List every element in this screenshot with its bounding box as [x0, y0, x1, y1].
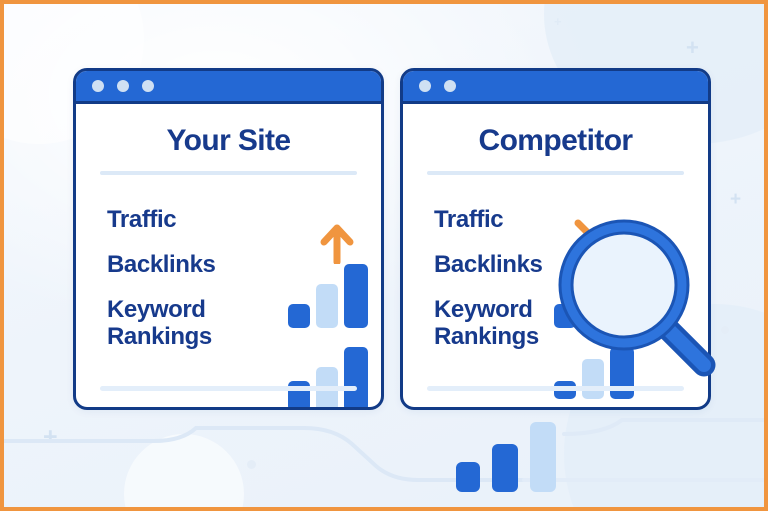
illustration-frame: + + + + Your Site Traffic Backlinks Keyw… [0, 0, 768, 511]
panel-title-your-site: Your Site [76, 104, 381, 158]
footer-divider [427, 386, 684, 391]
window-dot-icon[interactable] [419, 80, 431, 92]
bar [344, 264, 368, 328]
metric-keyword-rankings-line2: Rankings [434, 324, 542, 351]
metric-keyword-rankings-line1: Keyword [107, 297, 215, 324]
bar [582, 284, 604, 328]
footer-divider [100, 386, 357, 391]
metric-backlinks: Backlinks [434, 252, 542, 279]
keyword-rankings-bar-chart [288, 347, 368, 410]
wave-line-decoration [4, 394, 768, 511]
metric-backlinks: Backlinks [107, 252, 215, 279]
metric-keyword-rankings: Keyword Rankings [107, 297, 215, 351]
keyword-rankings-bar-chart [554, 347, 634, 399]
mini-bar [456, 462, 480, 492]
metric-keyword-rankings: Keyword Rankings [434, 297, 542, 351]
metric-list-your-site: Traffic Backlinks Keyword Rankings [107, 207, 215, 351]
window-titlebar [403, 71, 708, 104]
bar [288, 304, 310, 328]
backlinks-bar-chart [288, 264, 368, 328]
window-dot-icon[interactable] [444, 80, 456, 92]
window-body: Competitor Traffic Backlinks Keyword Ran… [403, 104, 708, 407]
window-dot-icon[interactable] [142, 80, 154, 92]
window-titlebar [76, 71, 381, 104]
title-divider [427, 171, 684, 175]
trend-down-arrow-icon [571, 216, 613, 258]
panel-title-competitor: Competitor [403, 104, 708, 158]
window-body: Your Site Traffic Backlinks Keyword Rank… [76, 104, 381, 407]
window-dot-icon[interactable] [117, 80, 129, 92]
trend-up-arrow-icon [320, 222, 354, 264]
bar [582, 359, 604, 399]
panel-competitor[interactable]: Competitor Traffic Backlinks Keyword Ran… [400, 68, 711, 410]
metric-traffic: Traffic [107, 207, 215, 234]
decorative-mini-bar-chart [456, 422, 556, 492]
metric-keyword-rankings-line1: Keyword [434, 297, 542, 324]
plus-decoration-icon: + [730, 190, 741, 209]
dot-decoration [721, 326, 729, 334]
window-dot-icon[interactable] [92, 80, 104, 92]
mini-bar [530, 422, 556, 492]
mini-bar [492, 444, 518, 492]
bar [610, 264, 634, 328]
bar [316, 284, 338, 328]
plus-decoration-icon: + [554, 15, 562, 28]
bar [554, 304, 576, 328]
metric-list-competitor: Traffic Backlinks Keyword Rankings [434, 207, 542, 351]
plus-decoration-icon: + [686, 37, 699, 59]
title-divider [100, 171, 357, 175]
metric-keyword-rankings-line2: Rankings [107, 324, 215, 351]
panel-your-site[interactable]: Your Site Traffic Backlinks Keyword Rank… [73, 68, 384, 410]
bar [344, 347, 368, 410]
metric-traffic: Traffic [434, 207, 542, 234]
backlinks-bar-chart [554, 264, 634, 328]
bar [610, 347, 634, 399]
